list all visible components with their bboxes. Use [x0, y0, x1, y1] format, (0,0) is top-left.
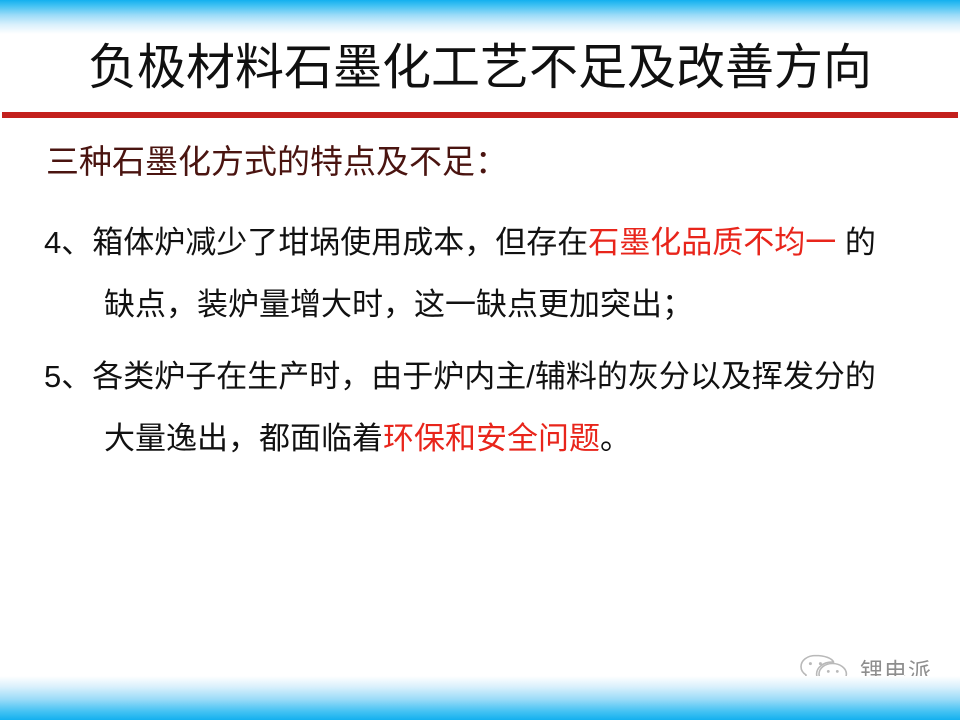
slide-canvas: 负极材料石墨化工艺不足及改善方向 三种石墨化方式的特点及不足： 4、箱体炉减少了…	[0, 0, 960, 720]
highlighted-text: 石墨化品质不均一	[588, 225, 836, 260]
body-text: 5、各类炉子在生产时，由于炉内主/辅料的灰分以及挥发分的	[44, 359, 876, 394]
bottom-gradient-band	[0, 676, 960, 720]
highlighted-text: 环保和安全问题	[383, 421, 600, 456]
body-line: 5、各类炉子在生产时，由于炉内主/辅料的灰分以及挥发分的	[44, 346, 944, 408]
slide-subtitle: 三种石墨化方式的特点及不足：	[46, 140, 508, 184]
title-divider-rule	[2, 112, 958, 118]
body-text: 的	[836, 225, 876, 260]
body-text: 大量逸出，都面临着	[104, 421, 383, 456]
body-line: 大量逸出，都面临着环保和安全问题。	[44, 408, 944, 470]
slide-title: 负极材料石墨化工艺不足及改善方向	[0, 38, 960, 98]
body-line: 缺点，装炉量增大时，这一缺点更加突出；	[44, 274, 944, 336]
body-list-item: 5、各类炉子在生产时，由于炉内主/辅料的灰分以及挥发分的大量逸出，都面临着环保和…	[44, 346, 944, 470]
top-gradient-band	[0, 0, 960, 34]
body-line: 4、箱体炉减少了坩埚使用成本，但存在石墨化品质不均一 的	[44, 212, 944, 274]
body-text: 4、箱体炉减少了坩埚使用成本，但存在	[44, 225, 588, 260]
body-content: 4、箱体炉减少了坩埚使用成本，但存在石墨化品质不均一 的缺点，装炉量增大时，这一…	[44, 212, 944, 480]
body-text: 。	[600, 421, 631, 456]
body-list-item: 4、箱体炉减少了坩埚使用成本，但存在石墨化品质不均一 的缺点，装炉量增大时，这一…	[44, 212, 944, 336]
body-text: 缺点，装炉量增大时，这一缺点更加突出；	[104, 287, 693, 322]
